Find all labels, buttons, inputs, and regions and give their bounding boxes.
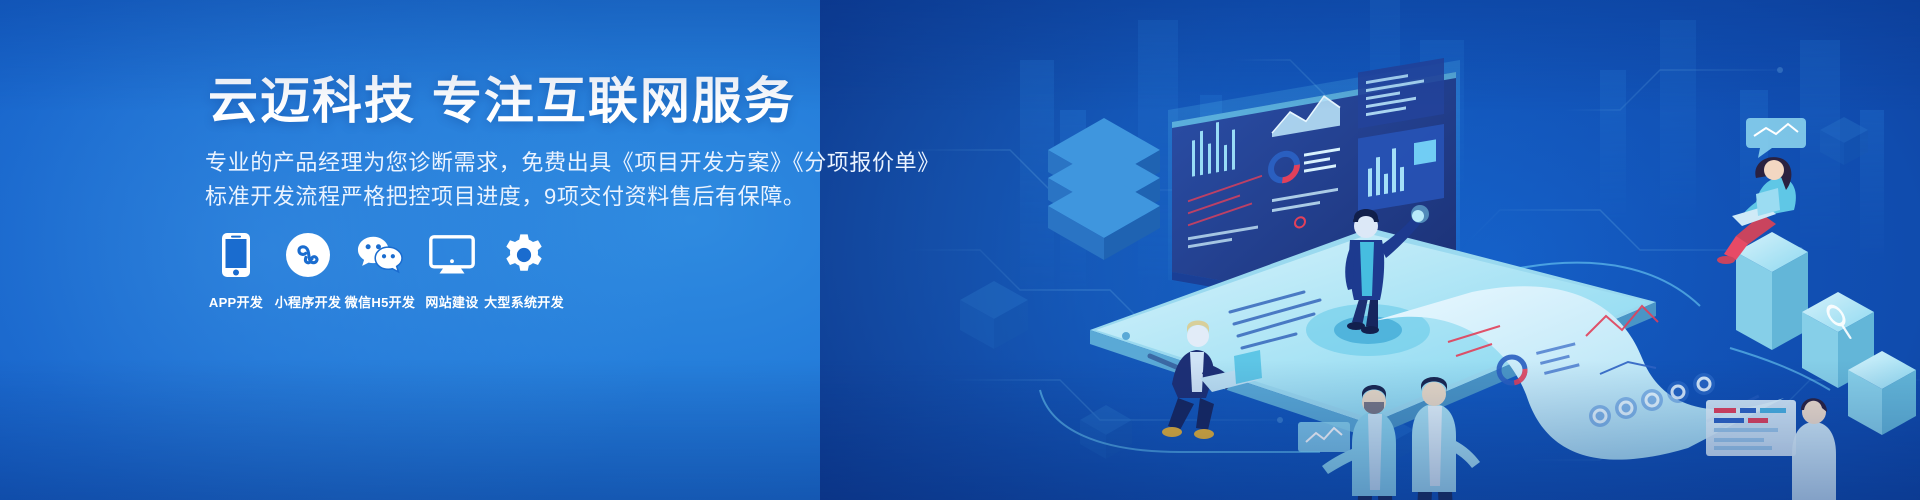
hero-banner: 云迈科技 专注互联网服务 专业的产品经理为您诊断需求，免费出具《项目开发方案》《… xyxy=(0,0,1920,500)
background-vignette xyxy=(0,0,1920,500)
